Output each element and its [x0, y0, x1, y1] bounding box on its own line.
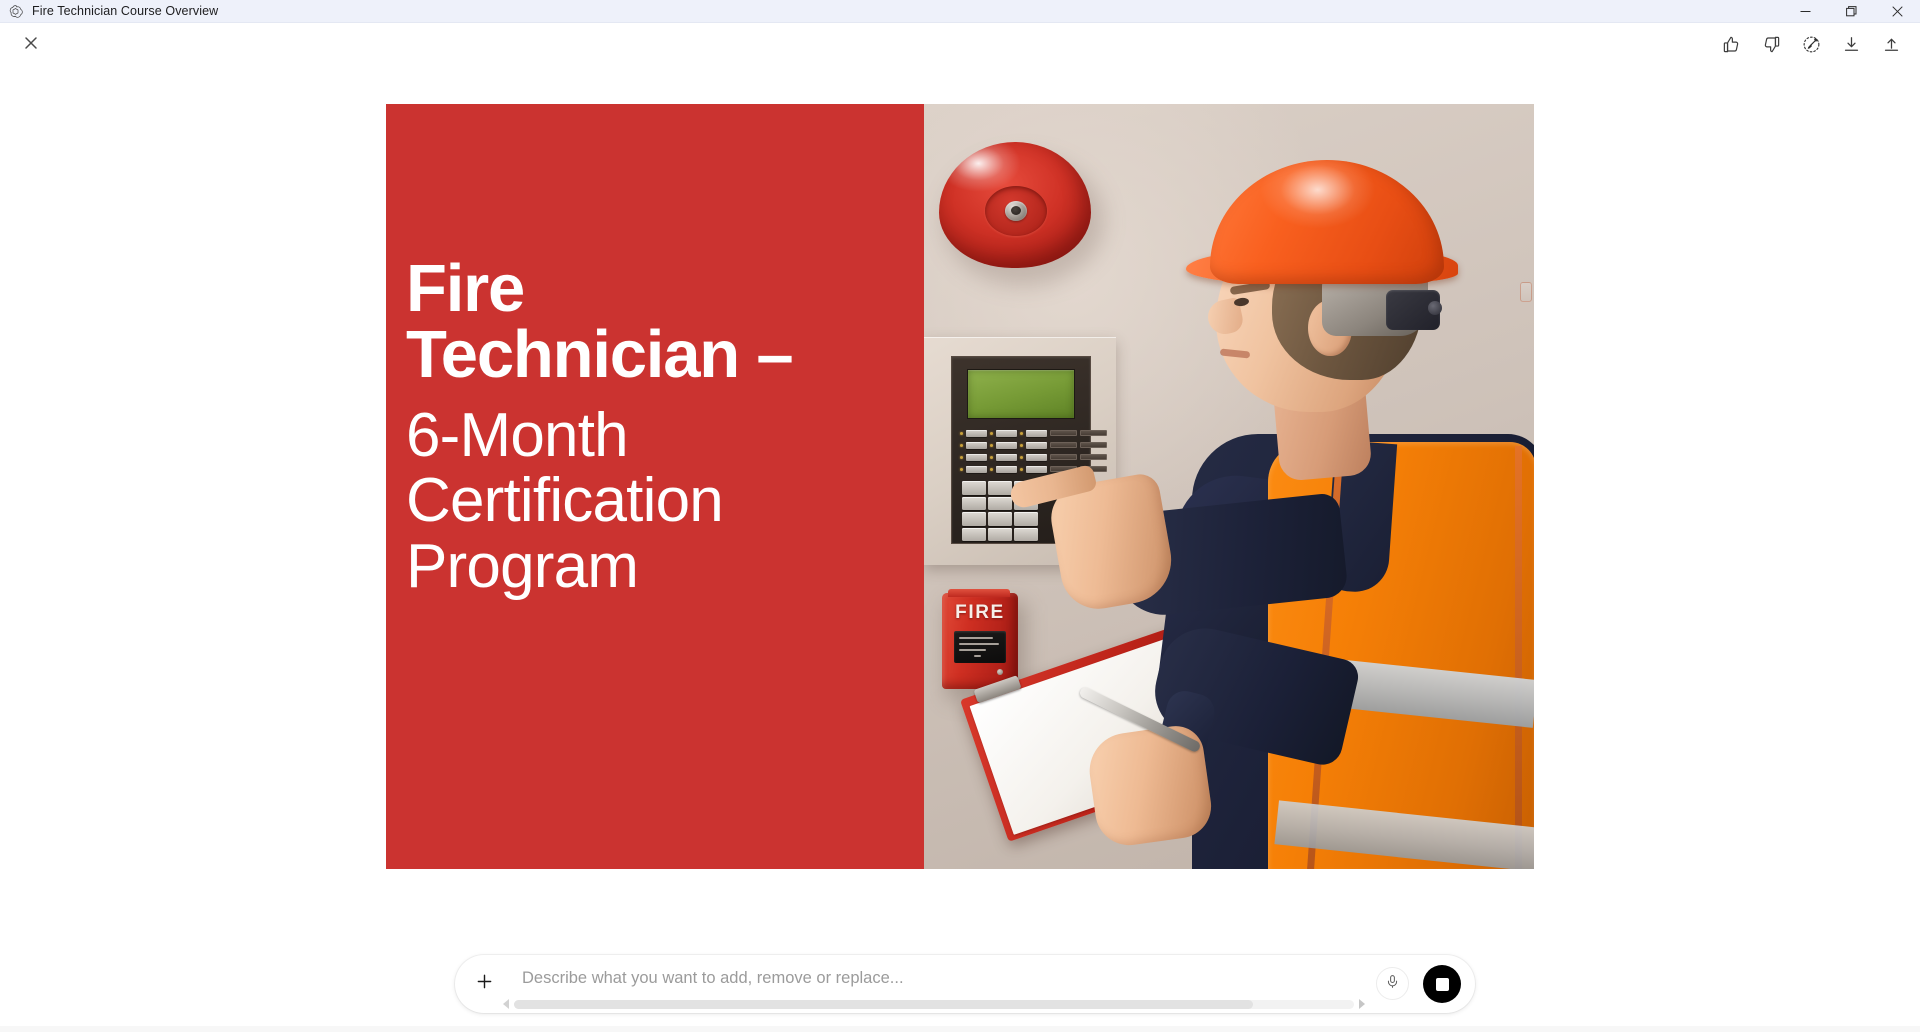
add-attachment-button[interactable]	[469, 969, 499, 999]
red-title-panel: Fire Technician – 6-Month Certification …	[386, 104, 924, 869]
restore-button[interactable]	[1828, 0, 1874, 23]
share-button[interactable]	[1876, 29, 1906, 59]
download-button[interactable]	[1836, 29, 1866, 59]
generated-image[interactable]: FIRE	[386, 104, 1534, 869]
thumbs-up-button[interactable]	[1716, 29, 1746, 59]
prompt-input[interactable]	[522, 969, 1292, 988]
hard-hat	[1210, 160, 1444, 284]
microphone-icon	[1385, 974, 1400, 994]
window-title: Fire Technician Course Overview	[32, 4, 218, 18]
minimize-button[interactable]	[1782, 0, 1828, 23]
fire-technician-figure	[924, 104, 1534, 869]
content-toolbar	[0, 23, 1920, 65]
photo-region: FIRE	[924, 104, 1534, 869]
triangle-left-icon[interactable]	[503, 999, 509, 1009]
headline-line-2: Technician –	[406, 322, 906, 388]
triangle-right-icon[interactable]	[1359, 999, 1365, 1009]
scrollbar-track[interactable]	[514, 1000, 1354, 1009]
window-controls	[1782, 0, 1920, 23]
voice-input-button[interactable]	[1376, 967, 1409, 1000]
headline-line-4: Certification	[406, 468, 906, 534]
thumbs-up-icon	[1722, 35, 1741, 54]
close-icon	[23, 35, 39, 56]
plus-icon	[476, 973, 493, 995]
magic-brush-icon	[1802, 35, 1821, 54]
prompt-horizontal-scrollbar[interactable]	[503, 998, 1365, 1010]
share-upload-icon	[1882, 35, 1901, 54]
prompt-bar	[455, 955, 1475, 1013]
close-button[interactable]	[1874, 0, 1920, 23]
thumbs-down-button[interactable]	[1756, 29, 1786, 59]
thumbs-down-icon	[1762, 35, 1781, 54]
close-preview-button[interactable]	[18, 32, 44, 58]
magic-edit-button[interactable]	[1796, 29, 1826, 59]
toolbar-actions	[1716, 29, 1906, 59]
vest-trim-right	[1515, 446, 1522, 869]
headline-line-1: Fire	[406, 256, 906, 322]
stop-square-icon	[1436, 978, 1449, 991]
download-icon	[1842, 35, 1861, 54]
headline-block: Fire Technician – 6-Month Certification …	[406, 256, 906, 600]
headline-line-3: 6-Month	[406, 403, 906, 469]
footer-strip	[0, 1026, 1920, 1032]
hard-hat-ratchet	[1386, 290, 1440, 330]
headline-line-5: Program	[406, 534, 906, 600]
scrollbar-thumb[interactable]	[514, 1000, 1253, 1009]
titlebar-left-group: Fire Technician Course Overview	[0, 4, 218, 19]
image-canvas: FIRE	[0, 65, 1920, 945]
window-titlebar: Fire Technician Course Overview	[0, 0, 1920, 23]
stop-generating-button[interactable]	[1423, 965, 1461, 1003]
hard-hat-vent-secondary	[1520, 282, 1532, 302]
openai-logo-icon	[8, 4, 23, 19]
